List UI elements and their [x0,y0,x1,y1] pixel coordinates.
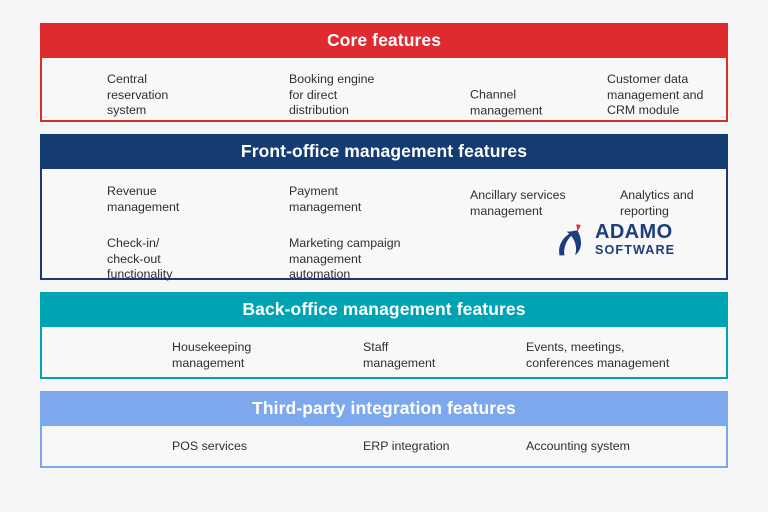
adamo-software-logo: ADAMO SOFTWARE [558,222,688,256]
feature-item: Marketing campaign management automation [289,236,401,283]
feature-item: Ancillary services management [470,188,566,219]
section-header-third-party: Third-party integration features [40,391,728,426]
section-body-front-office: Revenue management Payment management An… [40,169,728,280]
section-front-office-features: Front-office management features Revenue… [40,134,728,280]
feature-item: Payment management [289,184,361,215]
section-body-back-office: Housekeeping management Staff management… [40,327,728,379]
feature-item: ERP integration [363,439,450,455]
section-core-features: Core features Central reservation system… [40,23,728,122]
section-third-party-features: Third-party integration features POS ser… [40,391,728,468]
feature-item: Housekeeping management [172,340,251,371]
adamo-logo-word-sub: SOFTWARE [595,244,675,257]
feature-item: Accounting system [526,439,630,455]
section-body-core: Central reservation system Booking engin… [40,58,728,122]
section-title-third-party: Third-party integration features [252,400,516,418]
feature-item: Customer data management and CRM module [607,72,703,119]
feature-item: POS services [172,439,247,455]
section-header-front-office: Front-office management features [40,134,728,169]
feature-item: Channel management [470,88,542,119]
feature-item: Analytics and reporting [620,188,694,219]
feature-item: Staff management [363,340,435,371]
adamo-logo-word-main: ADAMO [595,222,675,242]
feature-item: Central reservation system [107,72,168,119]
adamo-swoosh-icon [558,222,588,256]
section-back-office-features: Back-office management features Housekee… [40,292,728,379]
section-header-back-office: Back-office management features [40,292,728,327]
section-title-front-office: Front-office management features [241,143,527,161]
feature-item: Events, meetings, conferences management [526,340,669,371]
feature-item: Booking engine for direct distribution [289,72,374,119]
section-body-third-party: POS services ERP integration Accounting … [40,426,728,468]
feature-item: Revenue management [107,184,179,215]
features-diagram: Core features Central reservation system… [40,23,728,480]
section-header-core: Core features [40,23,728,58]
adamo-logo-wordmark: ADAMO SOFTWARE [595,222,675,257]
feature-item: Check-in/ check-out functionality [107,236,172,283]
section-title-back-office: Back-office management features [242,301,525,319]
section-title-core: Core features [327,32,441,50]
